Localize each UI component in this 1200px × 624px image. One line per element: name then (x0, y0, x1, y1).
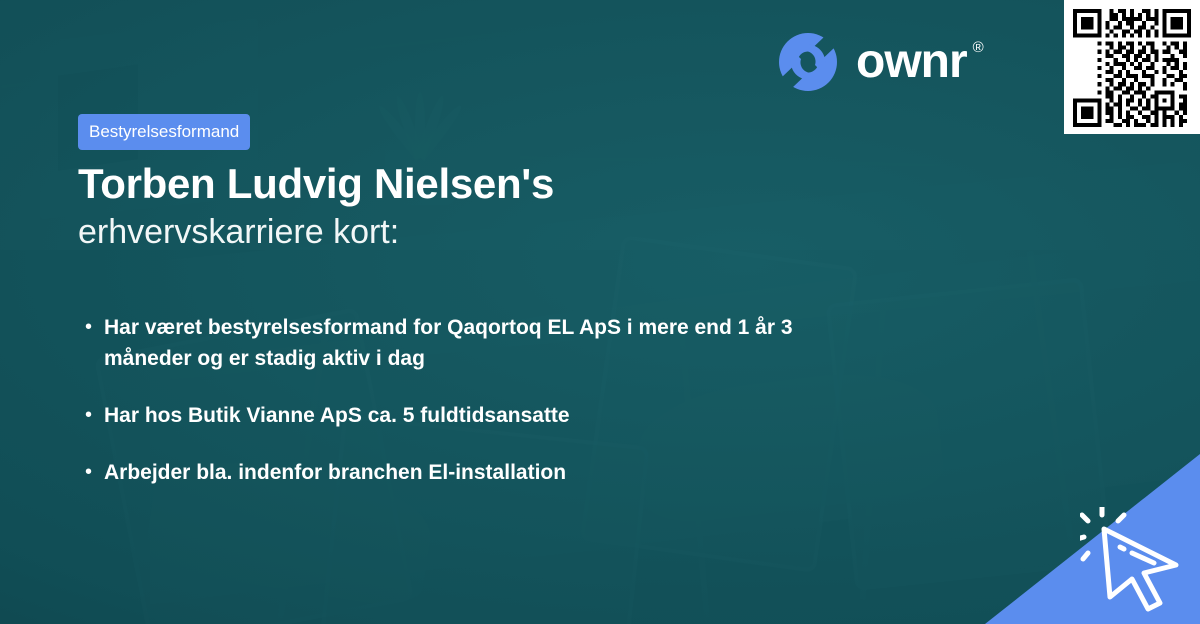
list-item: • Arbejder bla. indenfor branchen El-ins… (80, 457, 880, 488)
qr-code-icon[interactable] (1072, 9, 1192, 127)
ownr-logo: ownr® (777, 31, 983, 93)
list-item-text: Arbejder bla. indenfor branchen El-insta… (104, 457, 566, 488)
role-badge: Bestyrelsesformand (78, 114, 250, 150)
list-item-text: Har været bestyrelsesformand for Qaqorto… (104, 312, 849, 374)
bullet-marker: • (80, 400, 104, 430)
registered-trademark-symbol: ® (973, 40, 983, 55)
list-item-text: Har hos Butik Vianne ApS ca. 5 fuldtidsa… (104, 400, 570, 431)
bullet-marker: • (80, 457, 104, 487)
qr-code-panel[interactable] (1064, 0, 1200, 134)
click-cursor-icon (1080, 507, 1192, 612)
page-subtitle: erhvervskarriere kort: (78, 212, 399, 253)
page-title: Torben Ludvig Nielsen's (78, 160, 554, 207)
career-facts-list: • Har været bestyrelsesformand for Qaqor… (80, 312, 880, 514)
bullet-marker: • (80, 312, 104, 342)
ownr-wordmark: ownr® (856, 38, 983, 86)
career-card: ownr® (0, 0, 1200, 624)
ownr-swirl-circle-icon (777, 31, 839, 93)
list-item: • Har hos Butik Vianne ApS ca. 5 fuldtid… (80, 400, 880, 431)
list-item: • Har været bestyrelsesformand for Qaqor… (80, 312, 880, 374)
brand-name: ownr (856, 35, 967, 88)
